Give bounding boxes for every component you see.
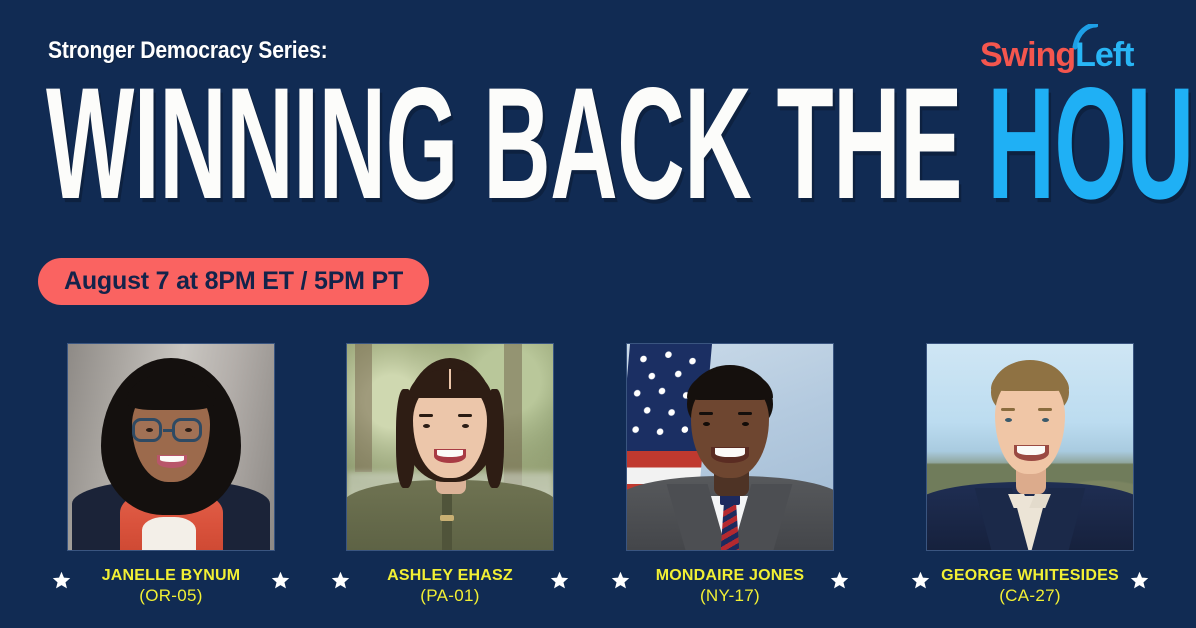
speaker-card[interactable]: JANELLE BYNUM (OR-05) [56,343,286,616]
speaker-nameblock: JANELLE BYNUM (OR-05) [56,566,286,616]
speaker-district: (PA-01) [335,585,565,606]
portrait-mondaire-jones [627,344,833,550]
star-icon [271,571,290,590]
speaker-name: MONDAIRE JONES [615,566,845,585]
speaker-photo [926,343,1134,551]
speaker-district: (CA-27) [915,585,1145,606]
speaker-card[interactable]: MONDAIRE JONES (NY-17) [615,343,845,616]
portrait-janelle-bynum [68,344,274,550]
speaker-name: JANELLE BYNUM [56,566,286,585]
speaker-nameblock: MONDAIRE JONES (NY-17) [615,566,845,616]
speaker-card[interactable]: ASHLEY EHASZ (PA-01) [335,343,565,616]
star-icon [331,571,350,590]
speaker-photo [67,343,275,551]
title-inner: WINNING BACK THE HOUSE [46,77,1196,212]
star-icon [611,571,630,590]
speaker-name: ASHLEY EHASZ [335,566,565,585]
event-date-badge: August 7 at 8PM ET / 5PM PT [38,258,429,305]
star-icon [52,571,71,590]
portrait-ashley-ehasz [347,344,553,550]
page-title: WINNING BACK THE HOUSE [46,78,1152,210]
title-part-white: WINNING BACK THE [46,55,987,232]
event-promo-graphic: Stronger Democracy Series: SwingLeft WIN… [0,0,1196,628]
star-icon [830,571,849,590]
star-icon [1130,571,1149,590]
star-icon [911,571,930,590]
portrait-george-whitesides [927,344,1133,550]
star-icon [550,571,569,590]
speaker-name: GEORGE WHITESIDES [915,566,1145,585]
speaker-district: (NY-17) [615,585,845,606]
speaker-photo [346,343,554,551]
speaker-photo [626,343,834,551]
speaker-nameblock: GEORGE WHITESIDES (CA-27) [915,566,1145,616]
speaker-district: (OR-05) [56,585,286,606]
speaker-nameblock: ASHLEY EHASZ (PA-01) [335,566,565,616]
title-part-blue: HOUSE [987,55,1196,232]
speaker-card[interactable]: GEORGE WHITESIDES (CA-27) [915,343,1145,616]
